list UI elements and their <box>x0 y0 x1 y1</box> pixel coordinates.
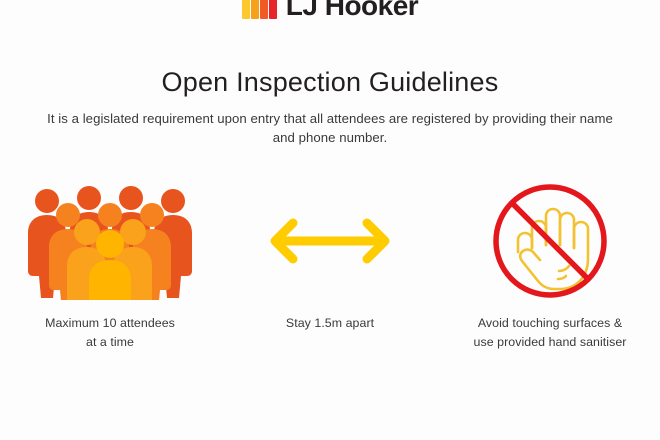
guideline-max-attendees: Maximum 10 attendees at a time <box>0 182 220 351</box>
crowd-of-people-icon <box>25 182 195 300</box>
guidelines-row: Maximum 10 attendees at a time Stay 1.5m… <box>0 182 660 351</box>
page-title: Open Inspection Guidelines <box>0 68 660 98</box>
logo-wordmark: LJ Hooker <box>286 0 418 20</box>
guideline-caption: Avoid touching surfaces & use provided h… <box>474 314 627 351</box>
guideline-caption: Stay 1.5m apart <box>286 314 374 333</box>
page-subtitle: It is a legislated requirement upon entr… <box>40 109 620 149</box>
title-block: Open Inspection Guidelines It is a legis… <box>0 30 660 148</box>
guideline-caption: Maximum 10 attendees at a time <box>45 314 175 351</box>
logo-bars-icon <box>242 0 277 19</box>
brand-header: LJ Hooker <box>0 0 660 30</box>
lj-hooker-logo: LJ Hooker <box>242 0 418 20</box>
guideline-no-touching: Avoid touching surfaces & use provided h… <box>440 182 660 351</box>
double-headed-arrow-icon <box>262 182 398 300</box>
guideline-distance: Stay 1.5m apart <box>220 182 440 333</box>
no-touching-hand-icon <box>490 182 610 300</box>
